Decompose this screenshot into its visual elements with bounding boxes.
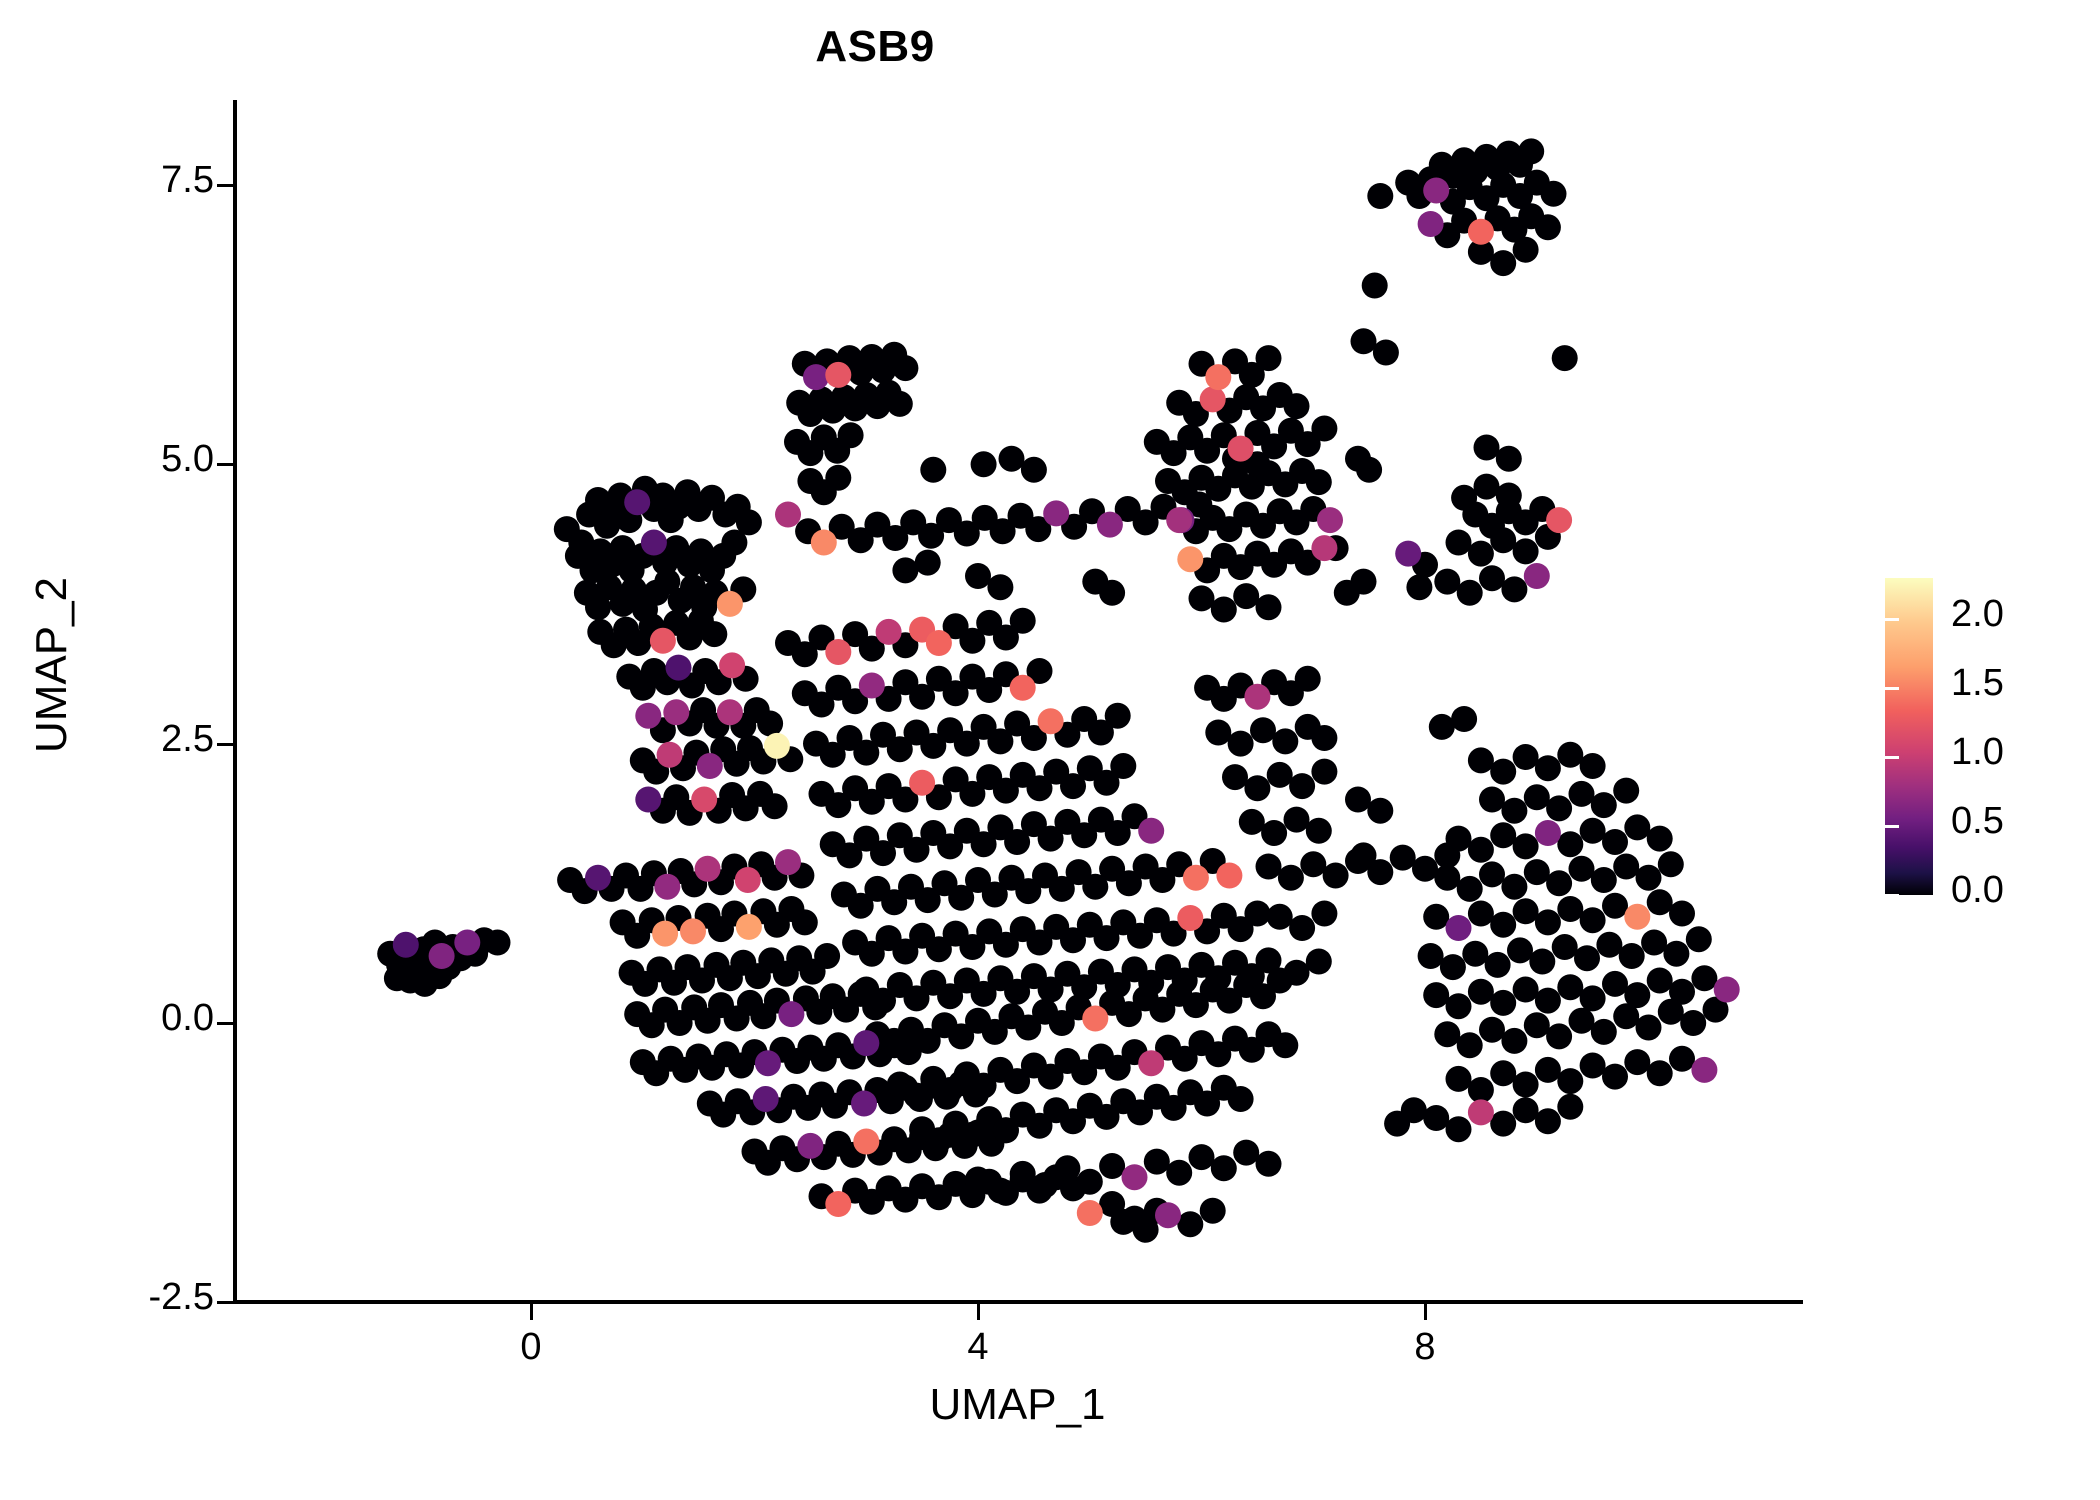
scatter-point (657, 742, 683, 768)
scatter-point (803, 364, 829, 390)
y-tick-mark (217, 743, 233, 746)
scatter-point (1205, 720, 1231, 746)
x-tick-label: 4 (918, 1326, 1038, 1369)
scatter-point (1233, 1140, 1259, 1166)
scatter-point (1602, 1064, 1628, 1090)
scatter-point (1256, 594, 1282, 620)
x-axis-label: UMAP_1 (235, 1380, 1800, 1430)
scatter-point (1446, 993, 1472, 1019)
scatter-point (1496, 446, 1522, 472)
scatter-point (1390, 845, 1416, 871)
scatter-point (1457, 580, 1483, 606)
scatter-point (1077, 1169, 1103, 1195)
scatter-point (1451, 485, 1477, 511)
scatter-point (1691, 965, 1717, 991)
scatter-point (1261, 820, 1287, 846)
scatter-point (1239, 809, 1265, 835)
y-tick-mark (217, 1022, 233, 1025)
scatter-point (1351, 569, 1377, 595)
scatter-point (1557, 742, 1583, 768)
x-tick-label: 0 (471, 1326, 591, 1369)
scatter-point (1569, 856, 1595, 882)
scatter-point (1105, 703, 1131, 729)
scatter-point (1228, 731, 1254, 757)
y-tick-mark (217, 1301, 233, 1304)
y-tick-label: 0.0 (161, 997, 214, 1040)
scatter-point (1535, 909, 1561, 935)
scatter-point (1032, 1172, 1058, 1198)
scatter-point (1524, 859, 1550, 885)
scatter-point (701, 621, 727, 647)
scatter-point (1457, 1032, 1483, 1058)
scatter-point (825, 465, 851, 491)
scatter-point (1557, 896, 1583, 922)
scatter-point (717, 699, 743, 725)
scatter-point (1311, 759, 1337, 785)
scatter-point (1367, 183, 1393, 209)
scatter-point (1535, 755, 1561, 781)
scatter-point (853, 1129, 879, 1155)
scatter-point (1490, 250, 1516, 276)
scatter-point (1272, 728, 1298, 754)
colorbar-tick-label: 1.5 (1951, 662, 2004, 705)
colorbar-tick-mark (2071, 825, 2085, 828)
chart-root: ASB9 -2.50.02.55.07.5 048 UMAP_2 UMAP_1 … (0, 0, 2100, 1500)
scatter-point (1580, 1053, 1606, 1079)
scatter-point (1580, 985, 1606, 1011)
y-axis-line (233, 100, 237, 1304)
scatter-point (1412, 856, 1438, 882)
scatter-point (1490, 759, 1516, 785)
scatter-point (1714, 977, 1740, 1003)
scatter-point (719, 652, 745, 678)
scatter-point (1267, 904, 1293, 930)
scatter-point (1468, 1077, 1494, 1103)
colorbar-tick-mark (2071, 894, 2085, 897)
scatter-point (1097, 512, 1123, 538)
scatter-point (1541, 181, 1567, 207)
scatter-point (1479, 1017, 1505, 1043)
scatter-point (851, 1091, 877, 1117)
scatter-point (1082, 1006, 1108, 1032)
scatter-point (1351, 328, 1377, 354)
scatter-point (1602, 893, 1628, 919)
scatter-point (736, 914, 762, 940)
scatter-point (1289, 773, 1315, 799)
scatter-point (1434, 865, 1460, 891)
scatter-point (1211, 597, 1237, 623)
scatter-point (792, 909, 818, 935)
scatter-point (1189, 585, 1215, 611)
scatter-point (814, 943, 840, 969)
scatter-point (1446, 1116, 1472, 1142)
y-tick-label: 2.5 (161, 718, 214, 761)
scatter-point (1423, 178, 1449, 204)
scatter-point (1189, 1144, 1215, 1170)
scatter-point (1557, 1094, 1583, 1120)
scatter-point (1155, 1202, 1181, 1228)
scatter-point (1591, 867, 1617, 893)
scatter-point (1569, 1008, 1595, 1034)
scatter-point (1613, 1003, 1639, 1029)
x-tick-mark (1424, 1304, 1427, 1320)
scatter-point (1479, 787, 1505, 813)
scatter-point (1133, 1217, 1159, 1243)
scatter-point (892, 557, 918, 583)
scatter-point (650, 628, 676, 654)
scatter-point (1345, 787, 1371, 813)
scatter-point (1144, 1149, 1170, 1175)
scatter-point (695, 856, 721, 882)
scatter-point (797, 1133, 823, 1159)
scatter-point (1686, 926, 1712, 952)
scatter-point (1351, 842, 1377, 868)
scatter-point (691, 787, 717, 813)
scatter-point (1311, 725, 1337, 751)
scatter-point (1624, 904, 1650, 930)
scatter-point (1580, 818, 1606, 844)
scatter-point (1110, 753, 1136, 779)
scatter-point (1440, 954, 1466, 980)
scatter-point (1122, 1164, 1148, 1190)
scatter-point (859, 673, 885, 699)
scatter-point (1205, 364, 1231, 390)
colorbar-gradient (1885, 578, 1933, 895)
scatter-point (1311, 416, 1337, 442)
scatter-point (1373, 340, 1399, 366)
scatter-point (1546, 870, 1572, 896)
scatter-point (1468, 901, 1494, 927)
scatter-point (1557, 1068, 1583, 1094)
colorbar-tick-label: 0.0 (1951, 869, 2004, 912)
scatter-point (1183, 865, 1209, 891)
scatter-point (1613, 778, 1639, 804)
scatter-point (1468, 979, 1494, 1005)
scatter-point (1250, 717, 1276, 743)
scatter-point (965, 1167, 991, 1193)
chart-title: ASB9 (0, 22, 1750, 72)
scatter-point (1636, 1015, 1662, 1041)
scatter-point (1490, 822, 1516, 848)
scatter-point (775, 502, 801, 528)
y-tick-mark (217, 463, 233, 466)
scatter-point (1395, 541, 1421, 567)
scatter-point (811, 530, 837, 556)
scatter-point (915, 550, 941, 576)
scatter-point (1010, 1161, 1036, 1187)
colorbar-tick-mark (2071, 756, 2085, 759)
scatter-point (909, 770, 935, 796)
y-tick-label: 7.5 (161, 159, 214, 202)
scatter-point (1256, 1151, 1282, 1177)
scatter-point (1222, 764, 1248, 790)
scatter-point (825, 1191, 851, 1217)
scatter-point (1423, 904, 1449, 930)
scatter-point (1244, 775, 1270, 801)
scatter-point (1446, 530, 1472, 556)
colorbar-tick-mark (1885, 687, 1899, 690)
scatter-point (1446, 826, 1472, 852)
scatter-point (1244, 684, 1270, 710)
scatter-point (1211, 1155, 1237, 1181)
scatter-point (887, 391, 913, 417)
scatter-point (1429, 714, 1455, 740)
scatter-point (1669, 901, 1695, 927)
scatter-point (624, 489, 650, 515)
scatter-point (999, 446, 1025, 472)
scatter-point (965, 563, 991, 589)
scatter-point (1513, 538, 1539, 564)
scatter-point (1289, 915, 1315, 941)
scatter-point (1267, 762, 1293, 788)
scatter-point (1010, 675, 1036, 701)
scatter-point (1535, 1057, 1561, 1083)
scatter-point (1457, 876, 1483, 902)
scatter-point (1138, 1050, 1164, 1076)
scatter-point (1680, 1010, 1706, 1036)
scatter-point (1580, 753, 1606, 779)
colorbar-tick-mark (1885, 618, 1899, 621)
scatter-point (1501, 576, 1527, 602)
scatter-point (853, 1030, 879, 1056)
scatter-point (757, 711, 783, 737)
scatter-point (1529, 949, 1555, 975)
scatter-point (1043, 500, 1069, 526)
scatter-point (1474, 474, 1500, 500)
scatter-point (1591, 792, 1617, 818)
scatter-point (717, 591, 743, 617)
scatter-point (1552, 345, 1578, 371)
scatter-point (1306, 949, 1332, 975)
scatter-point (1317, 507, 1343, 533)
scatter-point (825, 639, 851, 665)
scatter-point (1557, 974, 1583, 1000)
y-tick-mark (217, 184, 233, 187)
scatter-point (1624, 1049, 1650, 1075)
scatter-point (1490, 990, 1516, 1016)
scatter-point (1216, 863, 1242, 889)
scatter-point (1138, 818, 1164, 844)
y-tick-label: 5.0 (161, 438, 214, 481)
scatter-point (1446, 915, 1472, 941)
scatter-point (1569, 781, 1595, 807)
scatter-point (1513, 1072, 1539, 1098)
scatter-point (1535, 214, 1561, 240)
scatter-point (1513, 237, 1539, 263)
scatter-point (1418, 943, 1444, 969)
x-axis-line (233, 1300, 1803, 1304)
scatter-point (755, 1050, 781, 1076)
scatter-point (1272, 1032, 1298, 1058)
scatter-point (429, 943, 455, 969)
scatter-point (1490, 1060, 1516, 1086)
colorbar-tick-label: 0.5 (1951, 800, 2004, 843)
scatter-point (764, 733, 790, 759)
colorbar-tick-mark (1885, 756, 1899, 759)
colorbar-tick-mark (1885, 894, 1899, 897)
scatter-point (1228, 1086, 1254, 1112)
scatter-point (1166, 1160, 1192, 1186)
scatter-point (1619, 943, 1645, 969)
scatter-point (1513, 833, 1539, 859)
scatter-point (762, 793, 788, 819)
plot-panel (235, 100, 1800, 1302)
x-tick-mark (977, 1304, 980, 1320)
scatter-point (1647, 1060, 1673, 1086)
scatter-point (1468, 541, 1494, 567)
scatter-point (721, 530, 747, 556)
scatter-point (1228, 436, 1254, 462)
scatter-point (1524, 784, 1550, 810)
scatter-point (641, 530, 667, 556)
scatter-point (1546, 795, 1572, 821)
scatter-point (1691, 1057, 1717, 1083)
scatter-point (1591, 1019, 1617, 1045)
scatter-point (663, 699, 689, 725)
colorbar-tick-mark (1885, 825, 1899, 828)
scatter-point (1518, 138, 1544, 164)
scatter-point (1552, 934, 1578, 960)
scatter-point (1479, 861, 1505, 887)
scatter-point (666, 655, 692, 681)
scatter-point (1434, 569, 1460, 595)
scatter-plot-area (235, 100, 1800, 1302)
scatter-point (1535, 988, 1561, 1014)
scatter-point (1300, 851, 1326, 877)
colorbar-legend: 0.00.51.01.52.0 (1885, 578, 2085, 898)
scatter-point (1166, 507, 1192, 533)
scatter-point (1200, 1198, 1226, 1224)
scatter-point (485, 930, 511, 956)
scatter-point (1295, 666, 1321, 692)
scatter-point (1311, 535, 1337, 561)
scatter-point (1284, 393, 1310, 419)
scatter-point (680, 918, 706, 944)
scatter-point (1501, 1028, 1527, 1054)
scatter-point (1177, 546, 1203, 572)
scatter-point (1406, 574, 1432, 600)
scatter-point (926, 630, 952, 656)
scatter-point (1306, 469, 1332, 495)
scatter-point (1284, 960, 1310, 986)
scatter-point (1479, 565, 1505, 591)
scatter-point (1624, 814, 1650, 840)
scatter-point (1669, 1046, 1695, 1072)
scatter-point (1233, 583, 1259, 609)
scatter-points-layer (235, 100, 1800, 1302)
scatter-point (1177, 905, 1203, 931)
scatter-point (1602, 971, 1628, 997)
scatter-point (1110, 1209, 1136, 1235)
scatter-point (1647, 889, 1673, 915)
scatter-point (1546, 507, 1572, 533)
scatter-point (1451, 706, 1477, 732)
scatter-point (1596, 932, 1622, 958)
scatter-point (652, 921, 678, 947)
scatter-point (393, 932, 419, 958)
scatter-point (1613, 854, 1639, 880)
y-axis-label: UMAP_2 (27, 385, 77, 945)
scatter-point (1099, 1153, 1125, 1179)
scatter-point (1485, 952, 1511, 978)
scatter-point (775, 849, 801, 875)
scatter-point (697, 753, 723, 779)
scatter-point (1513, 898, 1539, 924)
scatter-point (1524, 563, 1550, 589)
scatter-point (1200, 386, 1226, 412)
scatter-point (1311, 901, 1337, 927)
scatter-point (1423, 1105, 1449, 1131)
scatter-point (1284, 807, 1310, 833)
scatter-point (1513, 977, 1539, 1003)
scatter-point (1647, 968, 1673, 994)
x-tick-mark (530, 1304, 533, 1320)
scatter-point (1636, 865, 1662, 891)
scatter-point (1401, 1097, 1427, 1123)
scatter-point (654, 874, 680, 900)
scatter-point (1507, 937, 1533, 963)
scatter-point (1356, 457, 1382, 483)
scatter-point (1574, 945, 1600, 971)
scatter-point (876, 619, 902, 645)
scatter-point (1535, 820, 1561, 846)
scatter-point (635, 787, 661, 813)
scatter-point (1278, 865, 1304, 891)
scatter-point (1099, 580, 1125, 606)
scatter-point (1244, 901, 1270, 927)
scatter-point (1446, 1066, 1472, 1092)
scatter-point (1513, 744, 1539, 770)
scatter-point (585, 865, 611, 891)
scatter-point (1468, 747, 1494, 773)
scatter-point (1021, 457, 1047, 483)
scatter-point (920, 457, 946, 483)
scatter-point (1546, 1023, 1572, 1049)
colorbar-tick-label: 2.0 (1951, 593, 2004, 636)
colorbar-tick-label: 1.0 (1951, 731, 2004, 774)
scatter-point (753, 1086, 779, 1112)
scatter-point (1362, 273, 1388, 299)
scatter-point (1513, 1097, 1539, 1123)
scatter-point (1496, 483, 1522, 509)
y-tick-label: -2.5 (149, 1276, 214, 1319)
scatter-point (1663, 941, 1689, 967)
scatter-point (1462, 941, 1488, 967)
scatter-point (454, 930, 480, 956)
scatter-point (1256, 345, 1282, 371)
scatter-point (1468, 219, 1494, 245)
scatter-point (1501, 798, 1527, 824)
scatter-point (1557, 831, 1583, 857)
scatter-point (1423, 982, 1449, 1008)
scatter-point (635, 703, 661, 729)
scatter-point (1490, 912, 1516, 938)
scatter-point (1647, 826, 1673, 852)
scatter-point (1490, 1111, 1516, 1137)
scatter-point (825, 362, 851, 388)
scatter-point (1474, 435, 1500, 461)
scatter-point (1256, 854, 1282, 880)
scatter-point (1323, 863, 1349, 889)
scatter-point (1468, 1099, 1494, 1125)
scatter-point (1038, 708, 1064, 734)
scatter-point (892, 355, 918, 381)
scatter-point (735, 867, 761, 893)
scatter-point (1468, 837, 1494, 863)
scatter-point (1434, 1021, 1460, 1047)
scatter-point (1524, 1012, 1550, 1038)
scatter-point (1580, 907, 1606, 933)
